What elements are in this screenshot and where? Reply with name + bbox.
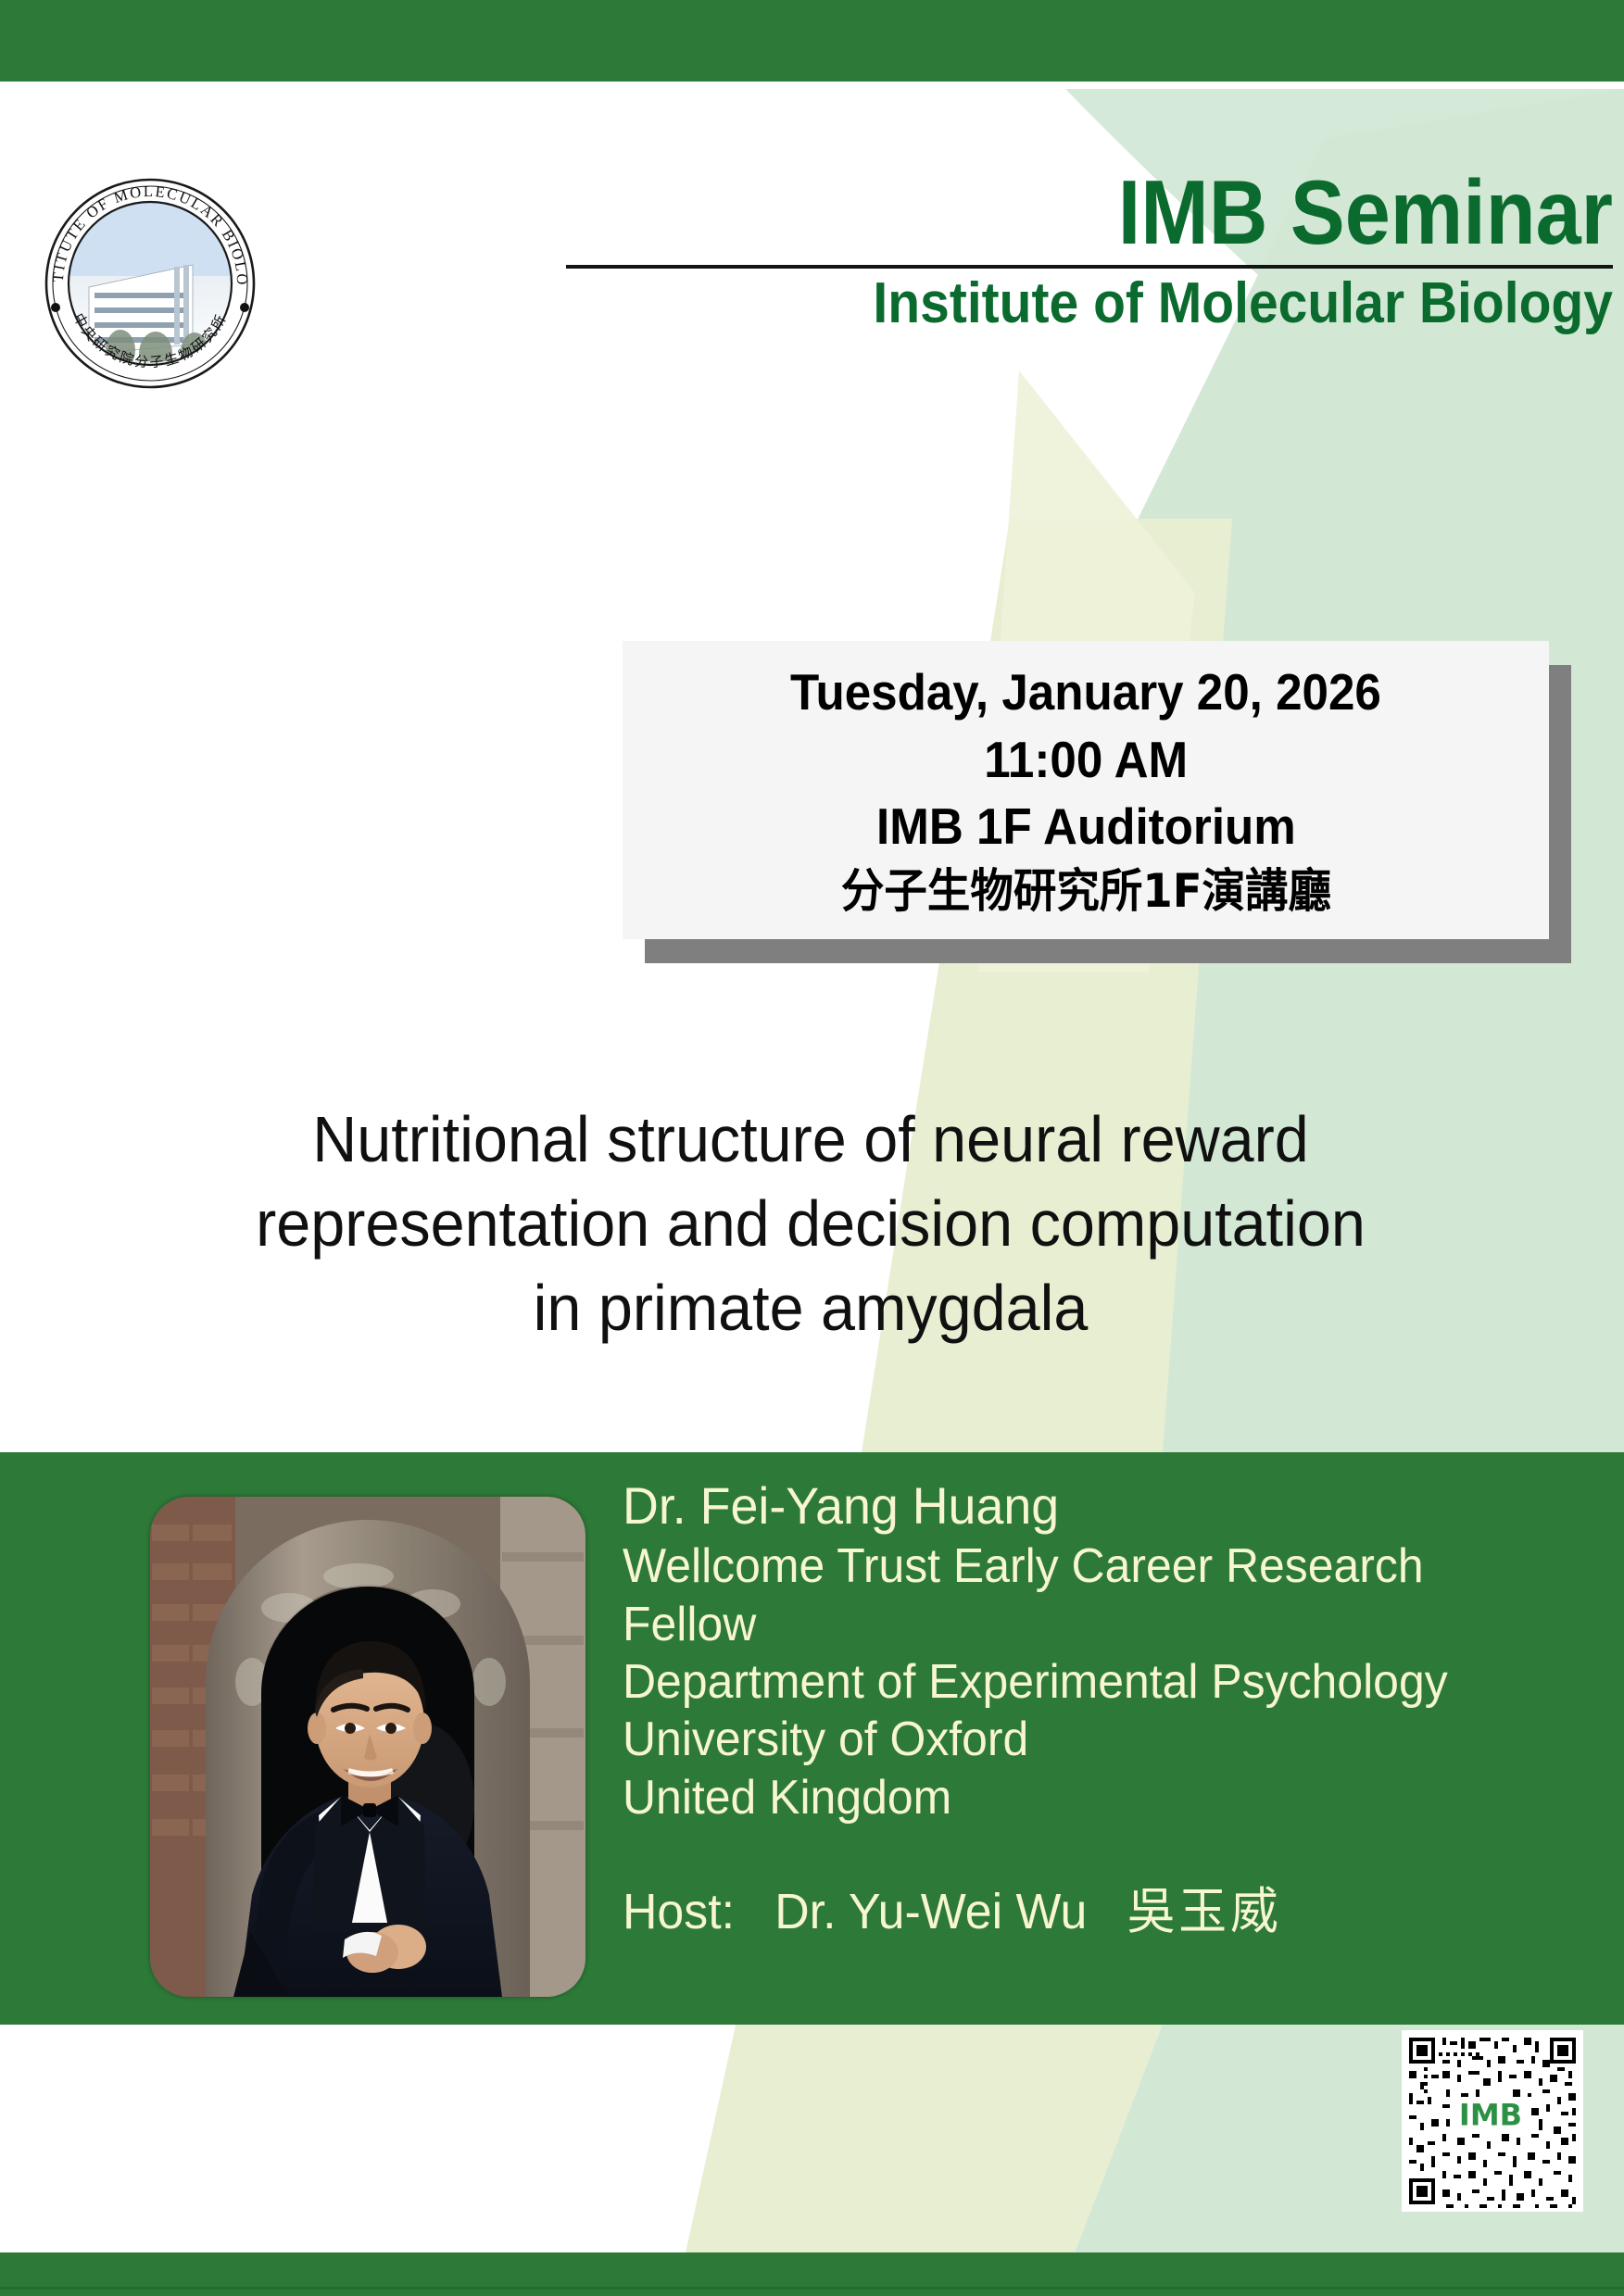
speaker-affiliation-4: University of Oxford bbox=[623, 1711, 1547, 1768]
event-venue: IMB 1F Auditorium bbox=[876, 793, 1296, 860]
talk-title-line-1: Nutritional structure of neural reward bbox=[120, 1098, 1502, 1182]
talk-title-line-2: representation and decision computation bbox=[120, 1182, 1502, 1266]
speaker-photo bbox=[150, 1497, 585, 1997]
host-line: Host: Dr. Yu-Wei Wu 吳玉威 bbox=[623, 1882, 1547, 1942]
seminar-brand-title: IMB Seminar bbox=[671, 167, 1613, 259]
background-band-yellow-lower bbox=[686, 2025, 1163, 2252]
host-name-cjk: 吳玉威 bbox=[1127, 1882, 1282, 1940]
event-time: 11:00 AM bbox=[984, 726, 1188, 794]
seminar-talk-title: Nutritional structure of neural reward r… bbox=[120, 1098, 1502, 1350]
speaker-affiliation-3: Department of Experimental Psychology bbox=[623, 1653, 1547, 1711]
header-bar bbox=[0, 0, 1624, 82]
seminar-poster: 2026 bbox=[0, 0, 1624, 2296]
speaker-affiliation-1: Wellcome Trust Early Career Research bbox=[623, 1537, 1547, 1595]
speaker-info: Dr. Fei-Yang Huang Wellcome Trust Early … bbox=[623, 1474, 1547, 1942]
title-divider bbox=[566, 265, 1613, 269]
host-label: Host: bbox=[623, 1884, 735, 1939]
qr-code[interactable]: IMB bbox=[1402, 2030, 1583, 2212]
event-date: Tuesday, January 20, 2026 bbox=[790, 659, 1381, 726]
title-block: IMB Seminar Institute of Molecular Biolo… bbox=[566, 167, 1613, 335]
imb-logo: INSTITUTE OF MOLECULAR BIOLOGY 中央研究院分子生物… bbox=[35, 169, 265, 398]
footer-bar bbox=[0, 2252, 1624, 2296]
event-details-box: Tuesday, January 20, 2026 11:00 AM IMB 1… bbox=[623, 641, 1549, 939]
qr-center-label: IMB bbox=[1459, 2097, 1522, 2132]
talk-title-line-3: in primate amygdala bbox=[120, 1266, 1502, 1350]
speaker-affiliation-5: United Kingdom bbox=[623, 1769, 1547, 1826]
speaker-name: Dr. Fei-Yang Huang bbox=[623, 1474, 1547, 1537]
institute-name: Institute of Molecular Biology bbox=[649, 272, 1613, 335]
speaker-affiliation-2: Fellow bbox=[623, 1596, 1547, 1653]
footer-inner-line bbox=[0, 2287, 1624, 2290]
event-venue-cjk: 分子生物研究所1F演講廳 bbox=[840, 860, 1330, 922]
host-name: Dr. Yu-Wei Wu bbox=[774, 1884, 1087, 1939]
